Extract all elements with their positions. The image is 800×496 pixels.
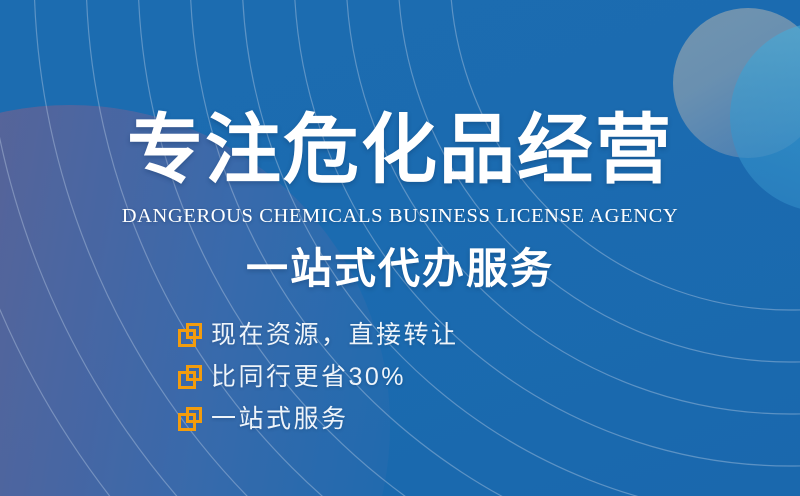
promo-banner: 专注危化品经营 DANGEROUS CHEMICALS BUSINESS LIC… [0,0,800,496]
list-item: 现在资源，直接转让 [178,316,459,354]
list-item-label: 比同行更省30% [211,362,406,392]
subtitle-english: DANGEROUS CHEMICALS BUSINESS LICENSE AGE… [0,203,800,229]
subtitle-chinese: 一站式代办服务 [0,243,800,295]
overlapping-squares-icon [178,407,202,431]
banner-content: 专注危化品经营 DANGEROUS CHEMICALS BUSINESS LIC… [0,0,800,496]
list-item-label: 现在资源，直接转让 [211,320,459,350]
list-item: 一站式服务 [178,400,459,438]
page-title: 专注危化品经营 [0,108,800,194]
feature-list: 现在资源，直接转让 比同行更省30% 一站式服务 [178,316,459,442]
overlapping-squares-icon [178,323,202,347]
list-item-label: 一站式服务 [211,404,349,434]
list-item: 比同行更省30% [178,358,459,396]
overlapping-squares-icon [178,365,202,389]
